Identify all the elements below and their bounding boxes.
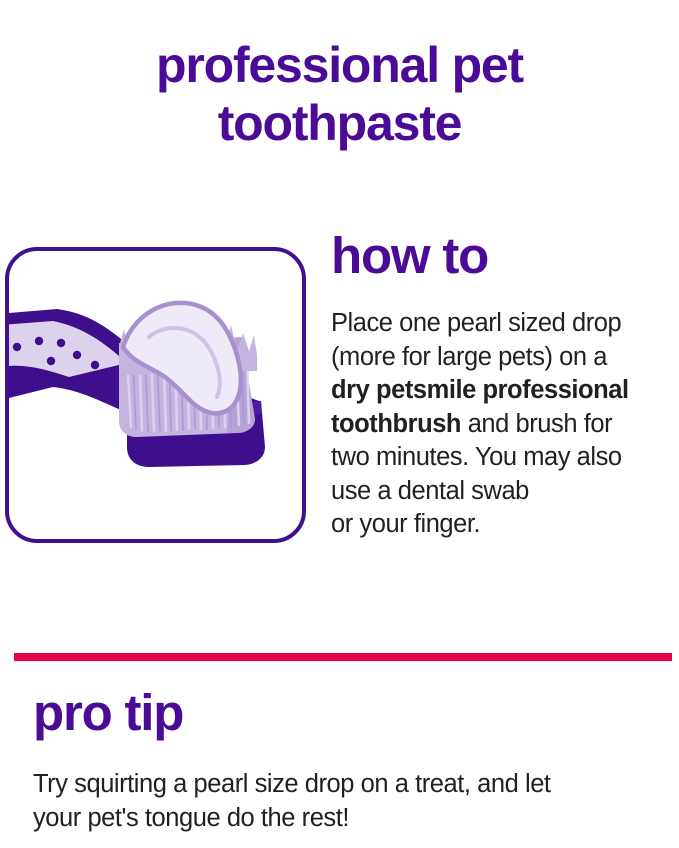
pro-tip-text: Try squirting a pearl size drop on a tre… (33, 768, 663, 835)
pro-tip-section: pro tip Try squirting a pearl size drop … (33, 683, 663, 835)
instruction-card: professional pet toothpaste (0, 0, 679, 848)
how-to-section: how to Place one pearl sized drop (more … (0, 228, 679, 558)
toothbrush-with-toothpaste-icon (9, 251, 302, 539)
how-to-text-block: how to Place one pearl sized drop (more … (331, 228, 671, 542)
crimson-divider (14, 653, 672, 661)
how-to-instructions: Place one pearl sized drop (more for lar… (331, 307, 671, 542)
pro-tip-heading: pro tip (33, 683, 663, 743)
how-to-heading: how to (331, 228, 671, 284)
toothbrush-illustration-frame (5, 247, 306, 543)
page-title: professional pet toothpaste (0, 36, 679, 152)
